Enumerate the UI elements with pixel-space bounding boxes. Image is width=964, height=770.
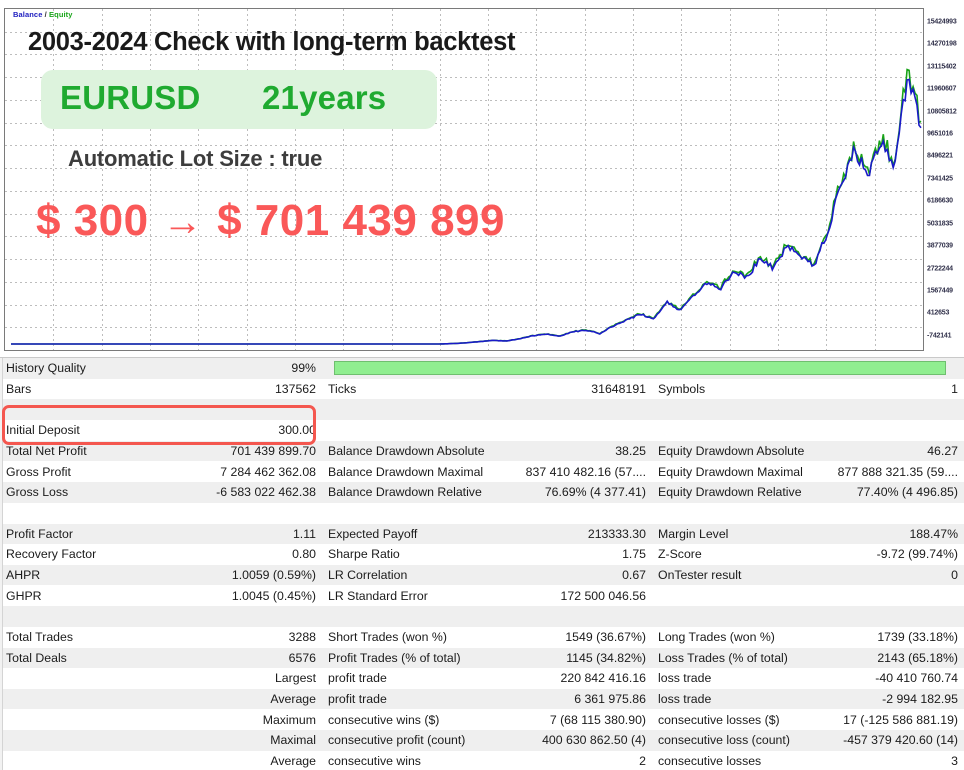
price-axis-tick: 15424993 (927, 19, 957, 26)
legend-equity-label: Equity (49, 10, 73, 19)
table-left-edge (0, 358, 3, 770)
stat-label (652, 585, 810, 606)
stat-value (162, 399, 322, 420)
stat-label: Profit Trades (% of total) (322, 648, 490, 669)
stat-label: Balance Drawdown Absolute (322, 441, 490, 462)
backtest-report-screen: Balance / Equity 15424993142701981311540… (0, 0, 964, 770)
stat-label: Sharpe Ratio (322, 544, 490, 565)
stat-label: Gross Loss (0, 482, 162, 503)
price-axis-tick: 7341425 (927, 175, 953, 182)
stat-value: -6 583 022 462.38 (162, 482, 322, 503)
table-row[interactable]: GHPR1.0045 (0.45%)LR Standard Error172 5… (0, 585, 964, 606)
chart-legend: Balance / Equity (13, 10, 73, 19)
annotation-end-amount: $ 701 439 899 (217, 196, 505, 245)
stat-value: 76.69% (4 377.41) (490, 482, 652, 503)
statistics-grid: History Quality99%Bars137562Ticks3164819… (0, 358, 964, 770)
stat-label: consecutive wins (322, 751, 490, 770)
stat-label: AHPR (0, 565, 162, 586)
price-axis-tick: 8496221 (927, 153, 953, 160)
stat-label (652, 420, 810, 441)
price-axis-tick: 1567449 (927, 287, 953, 294)
stat-label: loss trade (652, 668, 810, 689)
stat-value: 77.40% (4 496.85) (810, 482, 964, 503)
table-row[interactable]: Maximalconsecutive profit (count)400 630… (0, 730, 964, 751)
stat-value: 0.67 (490, 565, 652, 586)
stat-value (810, 399, 964, 420)
table-row[interactable] (0, 399, 964, 420)
table-row[interactable]: Averageconsecutive wins2consecutive loss… (0, 751, 964, 770)
stat-label: consecutive losses (652, 751, 810, 770)
stat-label: Gross Profit (0, 461, 162, 482)
stat-label: Short Trades (won %) (322, 627, 490, 648)
stat-value: 1739 (33.18%) (810, 627, 964, 648)
stat-value: 1.0059 (0.59%) (162, 565, 322, 586)
annotation-title: 2003-2024 Check with long-term backtest (28, 28, 515, 57)
stat-value: 99% (162, 358, 322, 379)
stat-value: 1145 (34.82%) (490, 648, 652, 669)
stat-label: OnTester result (652, 565, 810, 586)
stat-label: Z-Score (652, 544, 810, 565)
legend-separator: / (45, 10, 47, 19)
stat-value: 877 888 321.35 (59.... (810, 461, 964, 482)
price-axis-tick: 412653 (927, 310, 949, 317)
stat-value: 6576 (162, 648, 322, 669)
stat-value (810, 503, 964, 524)
stat-label: loss trade (652, 689, 810, 710)
stat-label: Long Trades (won %) (652, 627, 810, 648)
stat-label (652, 606, 810, 627)
stat-value: 3288 (162, 627, 322, 648)
stat-label: Recovery Factor (0, 544, 162, 565)
price-axis-tick: 3877039 (927, 243, 953, 250)
stat-label: Bars (0, 379, 162, 400)
stat-label: Symbols (652, 379, 810, 400)
table-row[interactable]: Total Deals6576Profit Trades (% of total… (0, 648, 964, 669)
stat-value: 2143 (65.18%) (810, 648, 964, 669)
stat-value (162, 503, 322, 524)
stat-value: Maximum (162, 709, 322, 730)
price-axis-tick: 11960607 (927, 86, 956, 93)
stat-label (0, 668, 162, 689)
price-axis-tick: 6186630 (927, 198, 953, 205)
stat-label: Loss Trades (% of total) (652, 648, 810, 669)
balance-equity-curve (5, 9, 924, 351)
stat-label (322, 503, 490, 524)
stat-label: profit trade (322, 668, 490, 689)
stat-label: Margin Level (652, 524, 810, 545)
stat-label: Expected Payoff (322, 524, 490, 545)
annotation-duration: 21years (262, 79, 386, 117)
stat-label: Total Trades (0, 627, 162, 648)
equity-chart-panel: Balance / Equity 15424993142701981311540… (0, 0, 964, 357)
stat-value: 2 (490, 751, 652, 770)
stat-value: 137562 (162, 379, 322, 400)
stat-label (0, 751, 162, 770)
stat-value: 6 361 975.86 (490, 689, 652, 710)
stat-value: 220 842 416.16 (490, 668, 652, 689)
stat-value: 188.47% (810, 524, 964, 545)
stat-label: profit trade (322, 689, 490, 710)
stat-value (490, 606, 652, 627)
table-row[interactable]: History Quality99% (0, 358, 964, 379)
stat-label: LR Standard Error (322, 585, 490, 606)
stat-value (810, 606, 964, 627)
stat-value: 0 (810, 565, 964, 586)
stat-value: 38.25 (490, 441, 652, 462)
price-axis-tick: 2722244 (927, 265, 953, 272)
stat-value: Largest (162, 668, 322, 689)
table-row[interactable]: Largestprofit trade220 842 416.16loss tr… (0, 668, 964, 689)
arrow-right-icon: → (149, 200, 218, 244)
stat-label: Equity Drawdown Relative (652, 482, 810, 503)
price-axis-tick: 9651016 (927, 131, 953, 138)
stat-value: 31648191 (490, 379, 652, 400)
stat-value (810, 420, 964, 441)
table-row[interactable]: Averageprofit trade6 361 975.86loss trad… (0, 689, 964, 710)
stat-value: 0.80 (162, 544, 322, 565)
chart-plot-area[interactable]: Balance / Equity (4, 8, 924, 351)
stat-value (162, 606, 322, 627)
stat-value: 837 410 482.16 (57.... (490, 461, 652, 482)
stat-label: Total Deals (0, 648, 162, 669)
legend-balance-label: Balance (13, 10, 42, 19)
stat-label (0, 399, 162, 420)
stat-value: 7 284 462 362.08 (162, 461, 322, 482)
price-axis-tick: 5031835 (927, 220, 953, 227)
price-axis-tick: 13115402 (927, 63, 956, 70)
stat-label: consecutive wins ($) (322, 709, 490, 730)
stat-label: consecutive profit (count) (322, 730, 490, 751)
table-row[interactable]: Total Net Profit701 439 899.70Balance Dr… (0, 441, 964, 462)
table-row[interactable] (0, 503, 964, 524)
stat-label: consecutive losses ($) (652, 709, 810, 730)
stat-label: Ticks (322, 379, 490, 400)
stat-value (810, 585, 964, 606)
stat-label: Balance Drawdown Relative (322, 482, 490, 503)
stat-label: GHPR (0, 585, 162, 606)
stat-value: -40 410 760.74 (810, 668, 964, 689)
stat-label: Initial Deposit (0, 420, 162, 441)
table-row[interactable]: Gross Loss-6 583 022 462.38Balance Drawd… (0, 482, 964, 503)
stat-label: Total Net Profit (0, 441, 162, 462)
table-row[interactable]: Initial Deposit300.00 (0, 420, 964, 441)
stat-label: Profit Factor (0, 524, 162, 545)
stat-value (490, 420, 652, 441)
stat-label: History Quality (0, 358, 162, 379)
stat-value: 400 630 862.50 (4) (490, 730, 652, 751)
stat-value (490, 503, 652, 524)
table-row[interactable] (0, 606, 964, 627)
table-row[interactable]: Total Trades3288Short Trades (won %)1549… (0, 627, 964, 648)
table-row[interactable]: Gross Profit7 284 462 362.08Balance Draw… (0, 461, 964, 482)
stat-value: 1 (810, 379, 964, 400)
stat-value: 172 500 046.56 (490, 585, 652, 606)
stat-label (0, 503, 162, 524)
stat-value: 7 (68 115 380.90) (490, 709, 652, 730)
stat-value: 17 (-125 586 881.19) (810, 709, 964, 730)
history-quality-progress-bar (334, 361, 946, 375)
stat-label (652, 399, 810, 420)
stat-label (0, 709, 162, 730)
stat-value: -9.72 (99.74%) (810, 544, 964, 565)
price-axis: 1542499314270198131154021196060710805812… (925, 8, 964, 351)
price-axis-tick: 10805812 (927, 108, 957, 115)
stat-label (322, 399, 490, 420)
stat-label (652, 503, 810, 524)
table-row[interactable]: AHPR1.0059 (0.59%)LR Correlation0.67OnTe… (0, 565, 964, 586)
stat-value: Average (162, 751, 322, 770)
annotation-start-amount: $ 300 (36, 196, 149, 245)
annotation-profit-growth: $ 300→$ 701 439 899 (36, 196, 505, 246)
stat-label (322, 606, 490, 627)
stat-value: -2 994 182.95 (810, 689, 964, 710)
stat-label: Equity Drawdown Absolute (652, 441, 810, 462)
stat-value: 213333.30 (490, 524, 652, 545)
price-axis-tick: -742141 (927, 332, 951, 339)
annotation-lot-size: Automatic Lot Size : true (68, 146, 322, 172)
stat-value: -457 379 420.60 (14) (810, 730, 964, 751)
stat-value: Maximal (162, 730, 322, 751)
stat-value: 300.00 (162, 420, 322, 441)
stat-value: 1.11 (162, 524, 322, 545)
stat-value: 3 (810, 751, 964, 770)
table-row[interactable]: Profit Factor1.11Expected Payoff213333.3… (0, 524, 964, 545)
table-row[interactable]: Maximumconsecutive wins ($)7 (68 115 380… (0, 709, 964, 730)
stat-label (0, 606, 162, 627)
table-row[interactable]: Recovery Factor0.80Sharpe Ratio1.75Z-Sco… (0, 544, 964, 565)
history-quality-bar-cell (322, 358, 964, 379)
stat-value: 1549 (36.67%) (490, 627, 652, 648)
stat-value: 46.27 (810, 441, 964, 462)
stat-value (490, 399, 652, 420)
stat-label: Equity Drawdown Maximal (652, 461, 810, 482)
stat-label (0, 730, 162, 751)
stat-label (322, 420, 490, 441)
backtest-statistics-table[interactable]: History Quality99%Bars137562Ticks3164819… (0, 357, 964, 770)
stat-value: 1.75 (490, 544, 652, 565)
table-row[interactable]: Bars137562Ticks31648191Symbols1 (0, 379, 964, 400)
price-axis-tick: 14270198 (927, 41, 957, 48)
stat-value: 701 439 899.70 (162, 441, 322, 462)
stat-label: LR Correlation (322, 565, 490, 586)
stat-label: consecutive loss (count) (652, 730, 810, 751)
stat-label (0, 689, 162, 710)
annotation-symbol: EURUSD (60, 79, 201, 117)
stat-value: Average (162, 689, 322, 710)
stat-label: Balance Drawdown Maximal (322, 461, 490, 482)
stat-value: 1.0045 (0.45%) (162, 585, 322, 606)
